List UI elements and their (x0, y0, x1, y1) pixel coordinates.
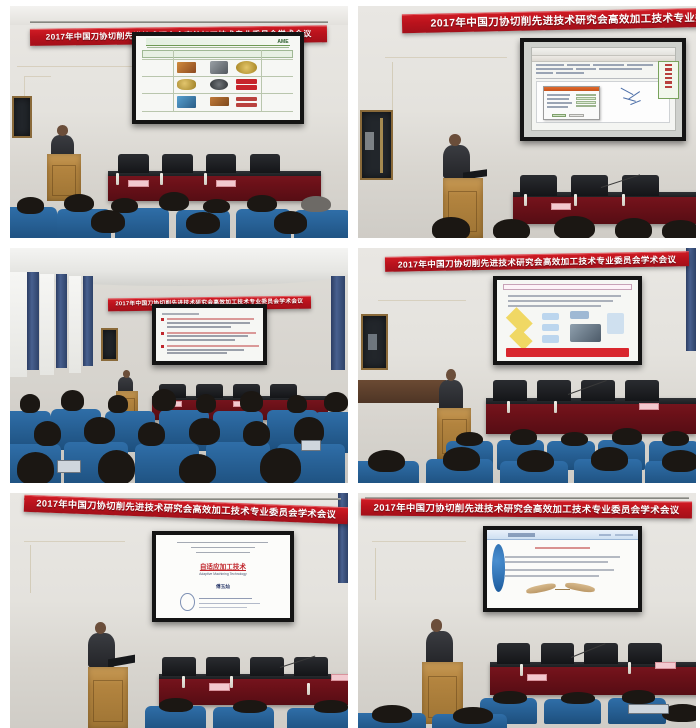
audience-head (17, 197, 44, 213)
phone-screen (301, 440, 321, 451)
water-bottle (307, 683, 310, 695)
water-bottle (520, 664, 523, 676)
chair (625, 380, 659, 401)
audience-head (20, 394, 40, 413)
slide-content-with-image (487, 530, 638, 608)
wall-mark (392, 62, 412, 122)
projection-screen-frame: 自适应加工技术 Adaptive Machining Technology 傅玉… (152, 531, 294, 621)
audience-head (189, 418, 219, 445)
audience-head (443, 447, 480, 471)
audience-head (61, 390, 85, 411)
university-seal (180, 593, 195, 611)
audience-head (493, 691, 527, 704)
aircraft-image (565, 581, 596, 593)
water-bottle (182, 676, 185, 688)
audience-head (91, 210, 125, 232)
banner-text: 2017年中国刀协切削先进技术研究会高效加工技术专业委员会学术会议 (430, 11, 696, 29)
audience-head (274, 211, 308, 233)
wall-mark (30, 545, 47, 593)
slide-side-card (658, 61, 678, 99)
nameplate (216, 180, 236, 187)
audience-head (662, 450, 696, 472)
chair (493, 380, 527, 401)
photo-collage: 2017年中国刀协切削先进技术研究会高效加工技术专业委员会学术会议 AME (0, 0, 700, 728)
photo-panel-6[interactable]: 2017年中国刀协切削先进技术研究会高效加工技术专业委员会学术会议 (358, 493, 696, 728)
phone-screen (57, 460, 81, 472)
water-bottle (628, 662, 631, 674)
audience-head (34, 421, 61, 446)
projection-screen-frame: AME (132, 32, 304, 125)
water-bottle (204, 173, 207, 185)
audience-head (108, 395, 128, 413)
audience-area (10, 187, 348, 238)
conference-banner: 2017年中国刀协切削先进技术研究会高效加工技术专业委员会学术会议 (361, 499, 692, 519)
audience-head (196, 394, 216, 413)
audience-head (324, 392, 348, 412)
nameplate (209, 683, 229, 690)
pillar (56, 274, 68, 368)
audience-head (662, 431, 689, 446)
pillar (331, 276, 345, 370)
photo-panel-2[interactable]: 2017年中国刀协切削先进技术研究会高效加工技术专业委员会学术会议 (358, 6, 696, 238)
slide-title-cn: 自适应加工技术 (200, 565, 246, 572)
audience-head (314, 700, 348, 713)
audience-head (517, 450, 554, 472)
audience-head (98, 450, 135, 483)
audience-head (84, 417, 114, 444)
speaker-body (426, 631, 453, 664)
water-bottle (524, 194, 527, 206)
water-bottle (160, 173, 163, 185)
photo-panel-4[interactable]: 2017年中国刀协切削先进技术研究会高效加工技术专业委员会学术会议 (358, 248, 696, 483)
audience-head (622, 690, 656, 704)
speaker-head (446, 369, 456, 381)
water-bottle (574, 194, 577, 206)
nameplate (639, 403, 659, 410)
wall-mark (372, 541, 467, 542)
wall-mark (385, 57, 507, 58)
photo-panel-1[interactable]: 2017年中国刀协切削先进技术研究会高效加工技术专业委员会学术会议 AME (10, 6, 348, 238)
audience-head (159, 192, 189, 211)
chair (541, 643, 575, 664)
audience-head (17, 452, 54, 483)
audience-head (260, 448, 301, 483)
audience-head (159, 698, 193, 712)
audience-head (287, 395, 307, 413)
lecture-room-scene-2: 2017年中国刀协切削先进技术研究会高效加工技术专业委员会学术会议 (358, 6, 696, 238)
speaker-head (95, 622, 106, 634)
chair (162, 657, 196, 676)
photo-panel-5[interactable]: 2017年中国刀协切削先进技术研究会高效加工技术专业委员会学术会议 自适应加工技… (10, 493, 348, 728)
audience-head (186, 212, 220, 233)
nameplate (551, 203, 571, 210)
chair (162, 154, 192, 173)
nameplate (128, 180, 148, 187)
pillar (27, 272, 39, 371)
window (69, 276, 81, 372)
lecture-room-scene-3: 2017年中国刀协切削先进技术研究会高效加工技术专业委员会学术会议 (10, 248, 348, 483)
water-bottle (554, 401, 557, 413)
window (40, 274, 54, 375)
nameplate (527, 674, 547, 681)
water-bottle (622, 194, 625, 206)
chair (250, 657, 284, 676)
speaker-head (431, 619, 442, 631)
audience-head (453, 707, 494, 724)
speaker-body (439, 380, 463, 411)
speaker-head (123, 370, 130, 378)
audience-area (358, 417, 696, 483)
audience-head (203, 199, 230, 213)
audience-head (662, 220, 696, 238)
photo-panel-3[interactable]: 2017年中国刀协切削先进技术研究会高效加工技术专业委员会学术会议 (10, 248, 348, 483)
slide-title: 自适应加工技术 Adaptive Machining Technology 傅玉… (156, 535, 290, 617)
nameplate (655, 662, 675, 669)
university-logo-icon (492, 544, 506, 592)
audience-head (591, 447, 628, 471)
audience-head (432, 217, 469, 238)
aircraft-image (526, 582, 557, 595)
chair (537, 380, 571, 401)
lecture-room-scene-6: 2017年中国刀协切削先进技术研究会高效加工技术专业委员会学术会议 (358, 493, 696, 728)
lecture-room-scene-4: 2017年中国刀协切削先进技术研究会高效加工技术专业委员会学术会议 (358, 248, 696, 483)
chair (497, 643, 531, 664)
slide-software-screenshot (524, 42, 682, 136)
wall-mark (24, 541, 125, 542)
wall-board (360, 110, 394, 180)
audience-area (358, 212, 696, 238)
window (10, 272, 27, 378)
chair (206, 657, 240, 676)
projection-screen-frame (493, 276, 642, 365)
audience-head (243, 421, 270, 446)
audience-head (138, 422, 165, 446)
audience-head (152, 389, 176, 411)
tablet-screen (628, 704, 669, 713)
wall-mark (17, 66, 132, 67)
audience-head (372, 705, 413, 723)
audience-head (240, 391, 264, 412)
slide-presenter: 傅玉灿 (216, 585, 230, 590)
audience-head (233, 700, 267, 714)
audience-head (615, 218, 652, 238)
banner-rod (30, 21, 327, 23)
floor (358, 380, 446, 404)
chair (118, 154, 148, 173)
slide-table: AME (136, 36, 300, 121)
audience-area (358, 688, 696, 728)
audience-area (10, 695, 348, 728)
audience-head (561, 432, 588, 446)
wall-mark (375, 548, 395, 600)
projection-screen-frame (152, 304, 267, 365)
speaker-head (57, 125, 68, 135)
audience-area (10, 380, 348, 483)
lecture-room-scene-1: 2017年中国刀协切削先进技术研究会高效加工技术专业委员会学术会议 AME (10, 6, 348, 238)
pillar (83, 276, 93, 365)
slide-bullets (156, 308, 263, 361)
audience-head (368, 450, 405, 472)
banner-text: 2017年中国刀协切削先进技术研究会高效加工技术专业委员会学术会议 (374, 503, 680, 515)
chair (250, 154, 280, 173)
audience-head (179, 454, 216, 483)
audience-head (612, 428, 642, 444)
wall-board (361, 314, 388, 370)
audience-head (456, 432, 483, 446)
water-bottle (507, 401, 510, 413)
slide-title-en: Adaptive Machining Technology (199, 573, 247, 576)
audience-head (64, 194, 94, 212)
audience-head (554, 216, 595, 238)
wall-board (12, 96, 32, 138)
chair (206, 154, 236, 173)
audience-head (301, 196, 331, 212)
chair (584, 643, 618, 664)
projection-screen-frame (520, 38, 686, 140)
water-bottle (230, 676, 233, 688)
projection-screen-frame (483, 526, 642, 612)
audience-head (493, 219, 530, 238)
lecture-room-scene-5: 2017年中国刀协切削先进技术研究会高效加工技术专业委员会学术会议 自适应加工技… (10, 493, 348, 728)
banner-text: 2017年中国刀协切削先进技术研究会高效加工技术专业委员会学术会议 (398, 255, 677, 269)
slide-diagram (497, 280, 638, 361)
nameplate (331, 674, 348, 681)
audience-head (510, 429, 537, 445)
wall-mark (378, 300, 466, 301)
audience-head (247, 195, 277, 212)
audience-head (561, 692, 595, 704)
wall-board (101, 328, 118, 361)
